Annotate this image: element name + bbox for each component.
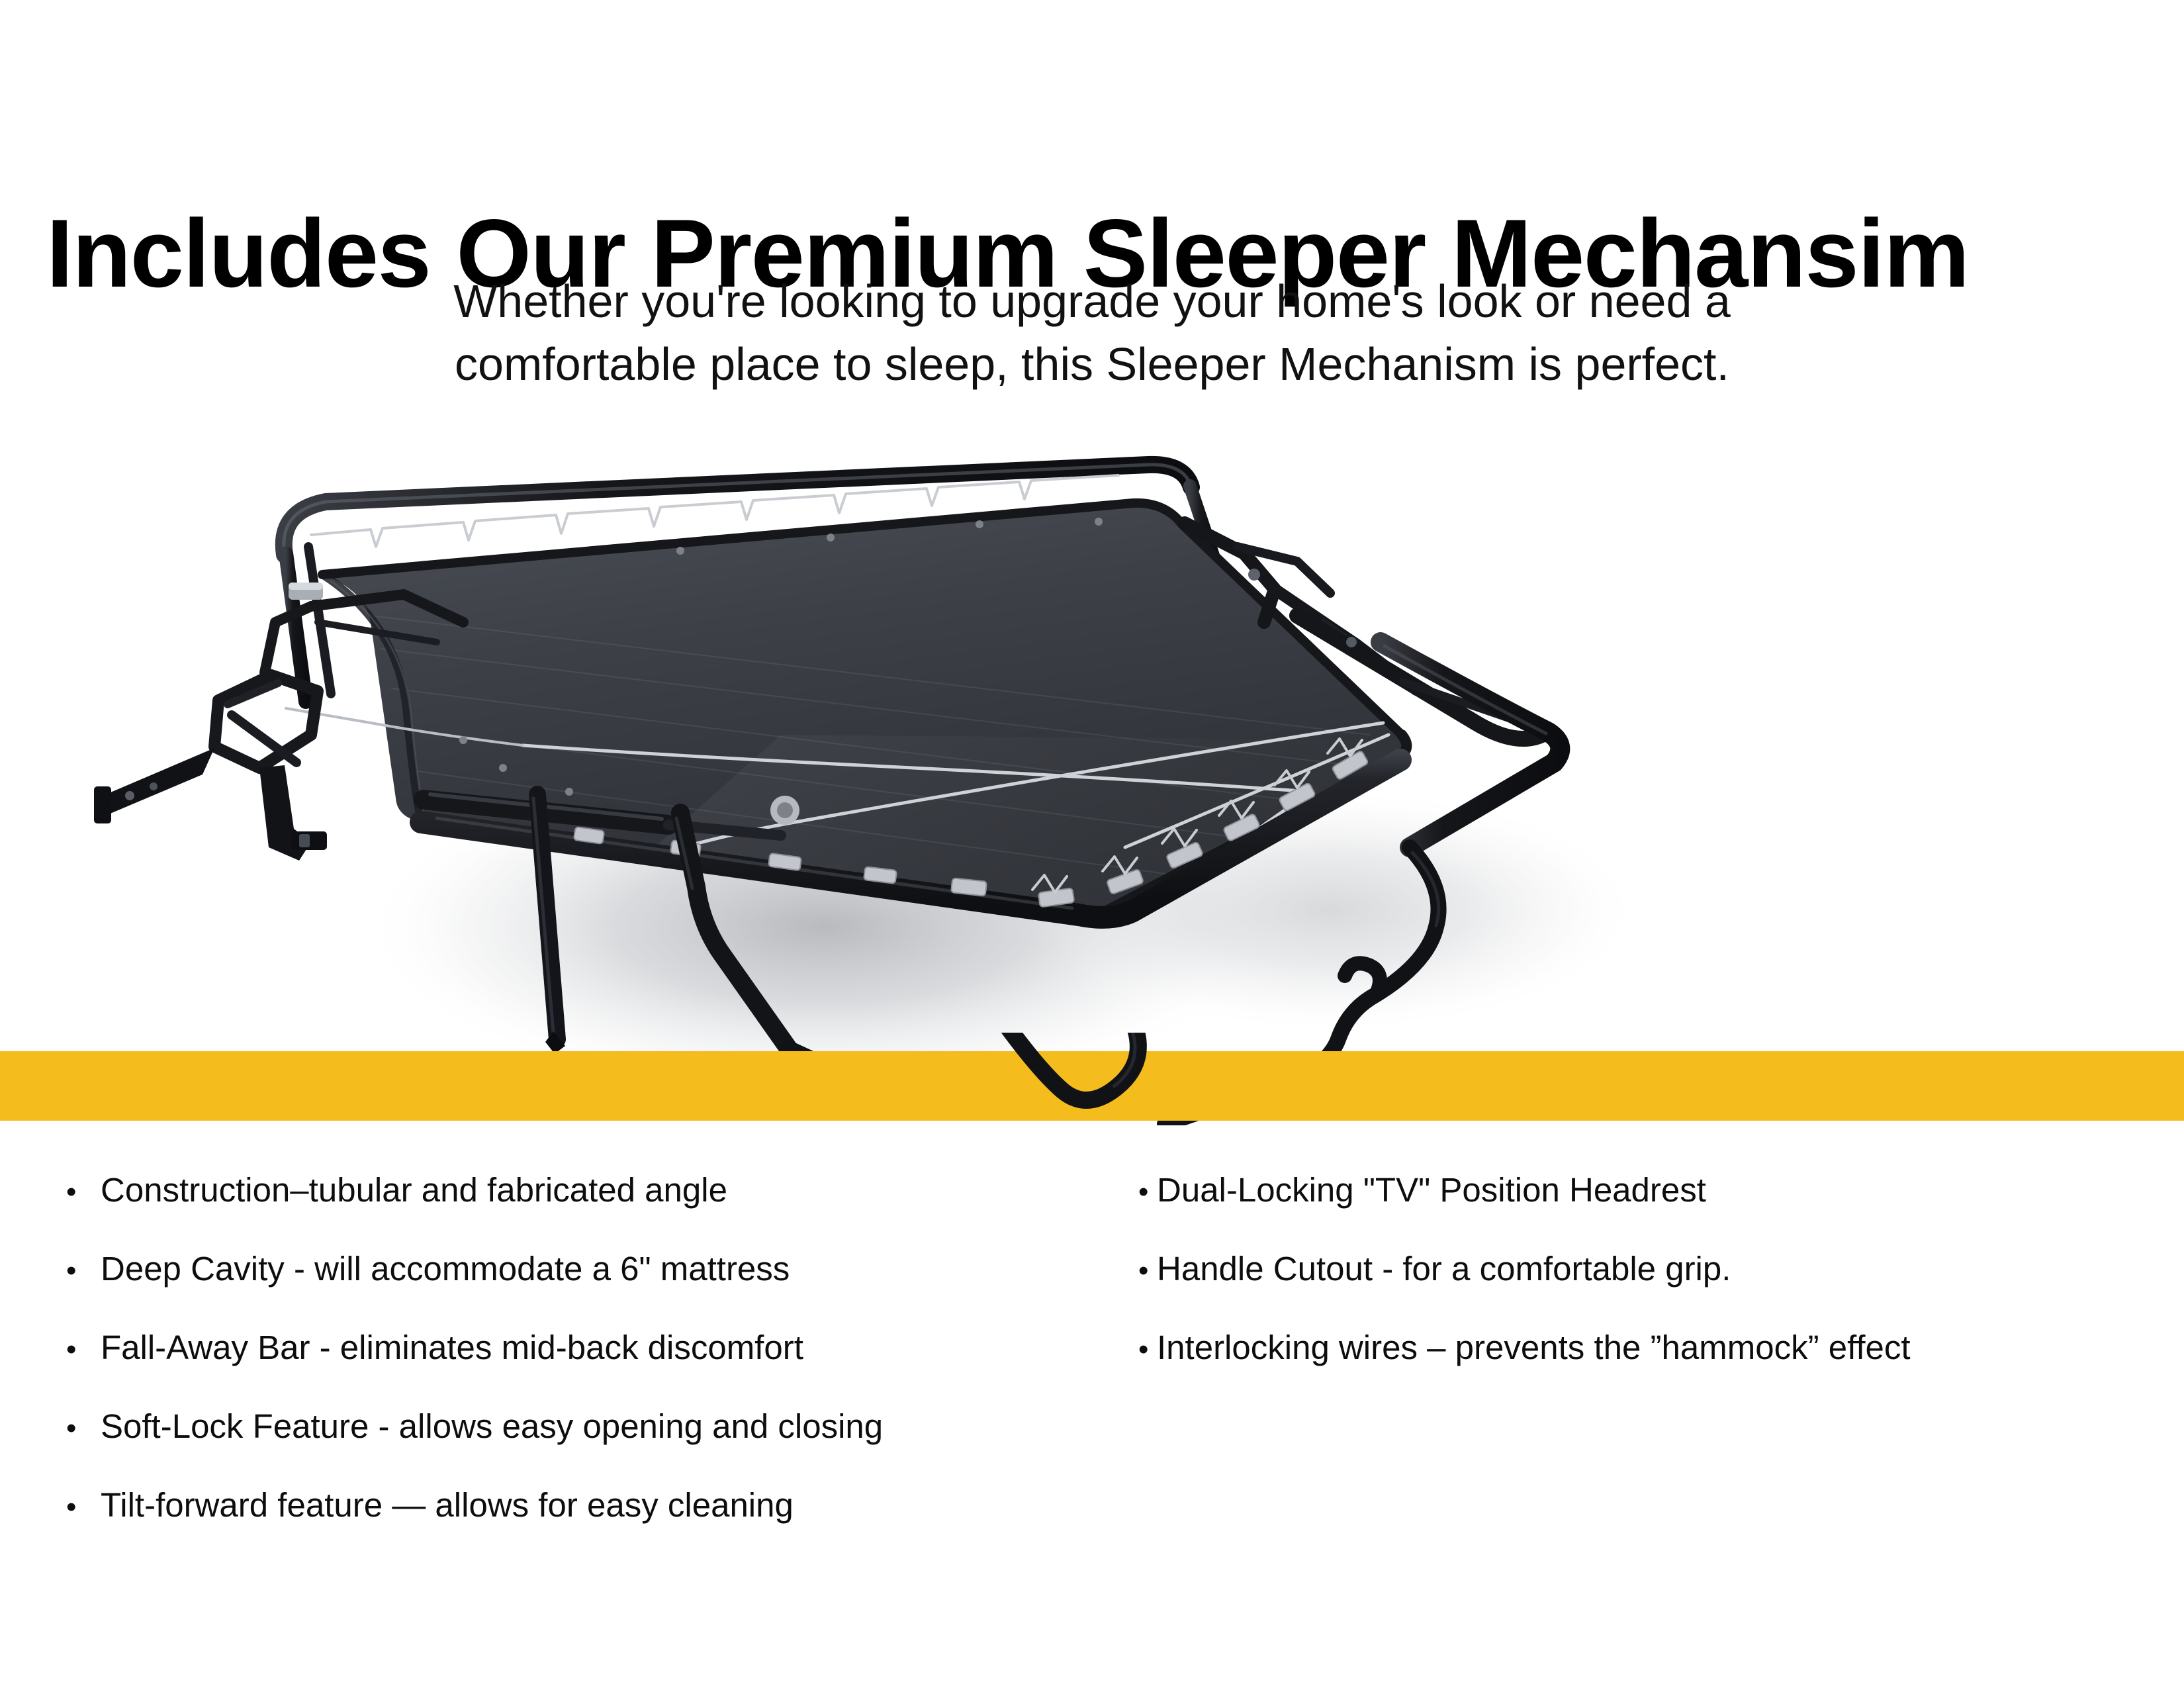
feature-label: Construction–tubular and fabricated angl… (101, 1173, 727, 1207)
feature-item: Handle Cutout - for a comfortable grip. (1138, 1252, 2184, 1286)
accent-divider-band (0, 1051, 2184, 1121)
feature-label: Interlocking wires – prevents the ”hammo… (1157, 1331, 1911, 1364)
bullet-icon (66, 1252, 101, 1286)
bullet-icon (66, 1173, 101, 1207)
feature-column-right: Dual-Locking "TV" Position Headrest Hand… (1125, 1173, 2184, 1409)
feature-label: Soft-Lock Feature - allows easy opening … (101, 1409, 883, 1443)
subtitle-line-2: comfortable place to sleep, this Sleeper… (0, 333, 2184, 396)
feature-item: Soft-Lock Feature - allows easy opening … (66, 1409, 1125, 1443)
hex-fastener (770, 796, 799, 825)
feature-item: Fall-Away Bar - eliminates mid-back disc… (66, 1331, 1125, 1364)
page-subtitle: Whether you're looking to upgrade your h… (0, 270, 2184, 395)
feature-item: Dual-Locking "TV" Position Headrest (1138, 1173, 2184, 1207)
feature-item: Construction–tubular and fabricated angl… (66, 1173, 1125, 1207)
feature-label: Deep Cavity - will accommodate a 6" matt… (101, 1252, 790, 1286)
headrest-ferrule (289, 583, 323, 600)
feature-column-left: Construction–tubular and fabricated angl… (0, 1173, 1125, 1567)
feature-item: Tilt-forward feature — allows for easy c… (66, 1488, 1125, 1522)
bullet-icon (1138, 1252, 1157, 1286)
feature-label: Handle Cutout - for a comfortable grip. (1157, 1252, 1731, 1286)
feature-label: Tilt-forward feature — allows for easy c… (101, 1488, 794, 1522)
feature-item: Interlocking wires – prevents the ”hammo… (1138, 1331, 2184, 1364)
feature-list: Construction–tubular and fabricated angl… (0, 1173, 2184, 1567)
bullet-icon (1138, 1331, 1157, 1364)
bullet-icon (1138, 1173, 1157, 1207)
bullet-icon (66, 1331, 101, 1364)
feature-item: Deep Cavity - will accommodate a 6" matt… (66, 1252, 1125, 1286)
sleeper-mechanism-image (0, 424, 2184, 1125)
sleeper-mechanism-illustration (0, 424, 2184, 1125)
feature-label: Dual-Locking "TV" Position Headrest (1157, 1173, 1706, 1207)
feature-label: Fall-Away Bar - eliminates mid-back disc… (101, 1331, 803, 1364)
bullet-icon (66, 1409, 101, 1443)
subtitle-line-1: Whether you're looking to upgrade your h… (0, 270, 2184, 333)
bullet-icon (66, 1488, 101, 1522)
